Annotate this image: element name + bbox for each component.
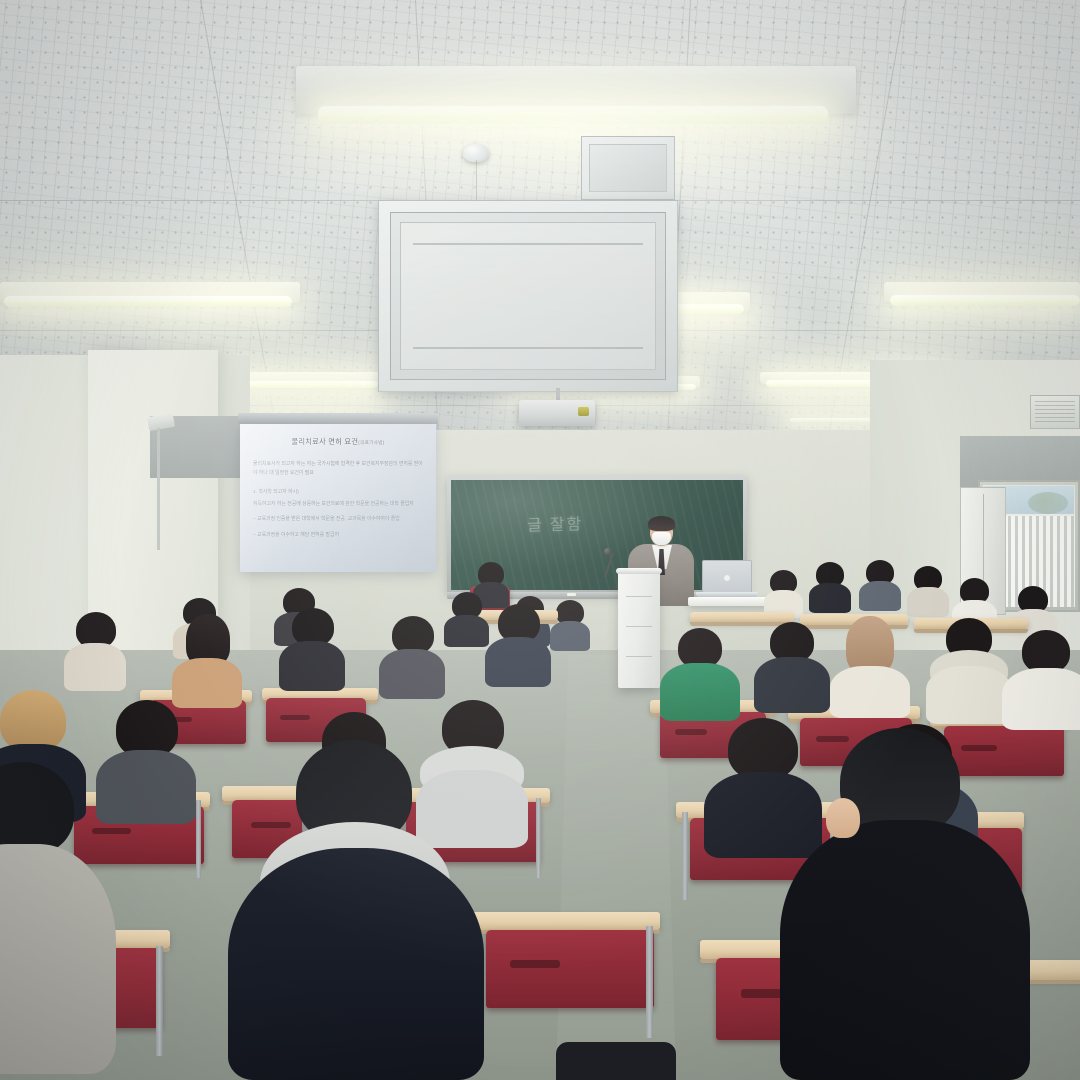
hair (1022, 630, 1070, 673)
hair (770, 622, 814, 662)
torso (172, 658, 242, 708)
hair (678, 628, 722, 668)
torso (279, 641, 345, 691)
torso-black-hoodie (780, 820, 1030, 1080)
desk-leg (682, 812, 688, 900)
chair-handle-slot (92, 828, 131, 834)
torso (704, 772, 822, 858)
torso (809, 583, 851, 613)
torso (926, 666, 1012, 724)
torso (830, 666, 910, 718)
projector-lens-icon (578, 407, 589, 416)
fluorescent-tube (318, 106, 828, 124)
outdoor-foliage (1028, 492, 1068, 514)
chair-handle-slot (510, 960, 560, 969)
chair-handle-slot (816, 736, 850, 741)
chalk-writing: 글 잘함 (527, 510, 584, 535)
podium-panel-line (626, 626, 652, 627)
desk-leg (196, 800, 201, 878)
blind-rod[interactable] (157, 428, 160, 550)
ac-inner-frame (390, 212, 666, 380)
ac-vane (413, 347, 643, 349)
fluorescent-tube (4, 296, 292, 307)
torso (485, 637, 551, 687)
hand (826, 798, 860, 838)
podium-panel-line (626, 596, 652, 597)
podium-top (616, 568, 662, 574)
desk[interactable] (470, 912, 660, 930)
microphone-icon (604, 548, 611, 555)
desk-leg (536, 798, 541, 878)
chair-handle-slot (280, 715, 310, 720)
slide-title-text: 물리치료사 면허 요건 (291, 437, 358, 446)
laptop-screen[interactable] (702, 560, 752, 593)
classroom-photo: 물리치료사 면허 요건(의료기사법) 물리치료사가 되고자 하는 자는 국가시험… (0, 0, 1080, 1080)
wall-ac-vent (1030, 395, 1080, 429)
torso-green-sweater (660, 663, 740, 721)
torso (416, 770, 528, 848)
torso (64, 643, 126, 691)
torso (754, 657, 830, 713)
slide-title: 물리치료사 면허 요건(의료기사법) (240, 437, 436, 447)
slide-section-line: 취득하고자 하는 전공에 상응하는 보건의료에 관한 학문을 전공하는 대학 졸… (253, 501, 425, 510)
torso (96, 750, 196, 824)
slide-body: 물리치료사가 되고자 하는 자는 국가시험에 합격한 후 보건복지부장관의 면허… (253, 461, 425, 547)
podium (618, 570, 660, 688)
bag (556, 1042, 676, 1080)
chair-handle-slot (961, 745, 997, 751)
chair-handle-slot (675, 729, 707, 734)
slide-section-label: 1. 학사학 되고자 하시) (253, 489, 425, 498)
torso-navy-hoodie (228, 848, 484, 1080)
torso (907, 587, 949, 617)
face-mask-icon (652, 532, 671, 545)
laptop-base[interactable] (696, 592, 758, 597)
chalk-piece[interactable] (567, 593, 576, 596)
air-vent (581, 136, 675, 200)
desk-leg (646, 926, 653, 1038)
chair[interactable] (486, 930, 654, 1008)
slide-bullet: – 교육과정 인증을 받은 대학에서 학문을 전공, 교과목을 이수하여야 졸업 (253, 516, 425, 525)
torso (1002, 668, 1080, 730)
desk[interactable] (690, 612, 794, 622)
torso (859, 581, 901, 611)
chair[interactable] (944, 726, 1064, 776)
torso (550, 621, 590, 651)
center-aisle (556, 655, 676, 1080)
ac-vane (413, 243, 643, 245)
podium-panel-line (626, 656, 652, 657)
screen-housing (238, 413, 438, 424)
presenter-hair (648, 516, 675, 531)
hair-blonde (0, 690, 66, 752)
hair (728, 718, 798, 780)
torso (379, 649, 445, 699)
slide-title-sub: (의료기사법) (358, 440, 384, 445)
chair-handle-slot (251, 822, 291, 828)
torso (444, 615, 489, 647)
projector (519, 400, 595, 426)
desk-leg (156, 946, 163, 1056)
detector-wire (476, 160, 477, 202)
slide-bullet: – 교육과정을 이수하고 해당 면허를 발급처 (253, 532, 425, 541)
slide-paragraph: 물리치료사가 되고자 하는 자는 국가시험에 합격한 후 보건복지부장관의 면허… (253, 461, 425, 478)
fluorescent-tube (890, 295, 1080, 306)
projection-screen: 물리치료사 면허 요건(의료기사법) 물리치료사가 되고자 하는 자는 국가시험… (240, 424, 436, 572)
ceiling-ac-unit (378, 200, 678, 392)
